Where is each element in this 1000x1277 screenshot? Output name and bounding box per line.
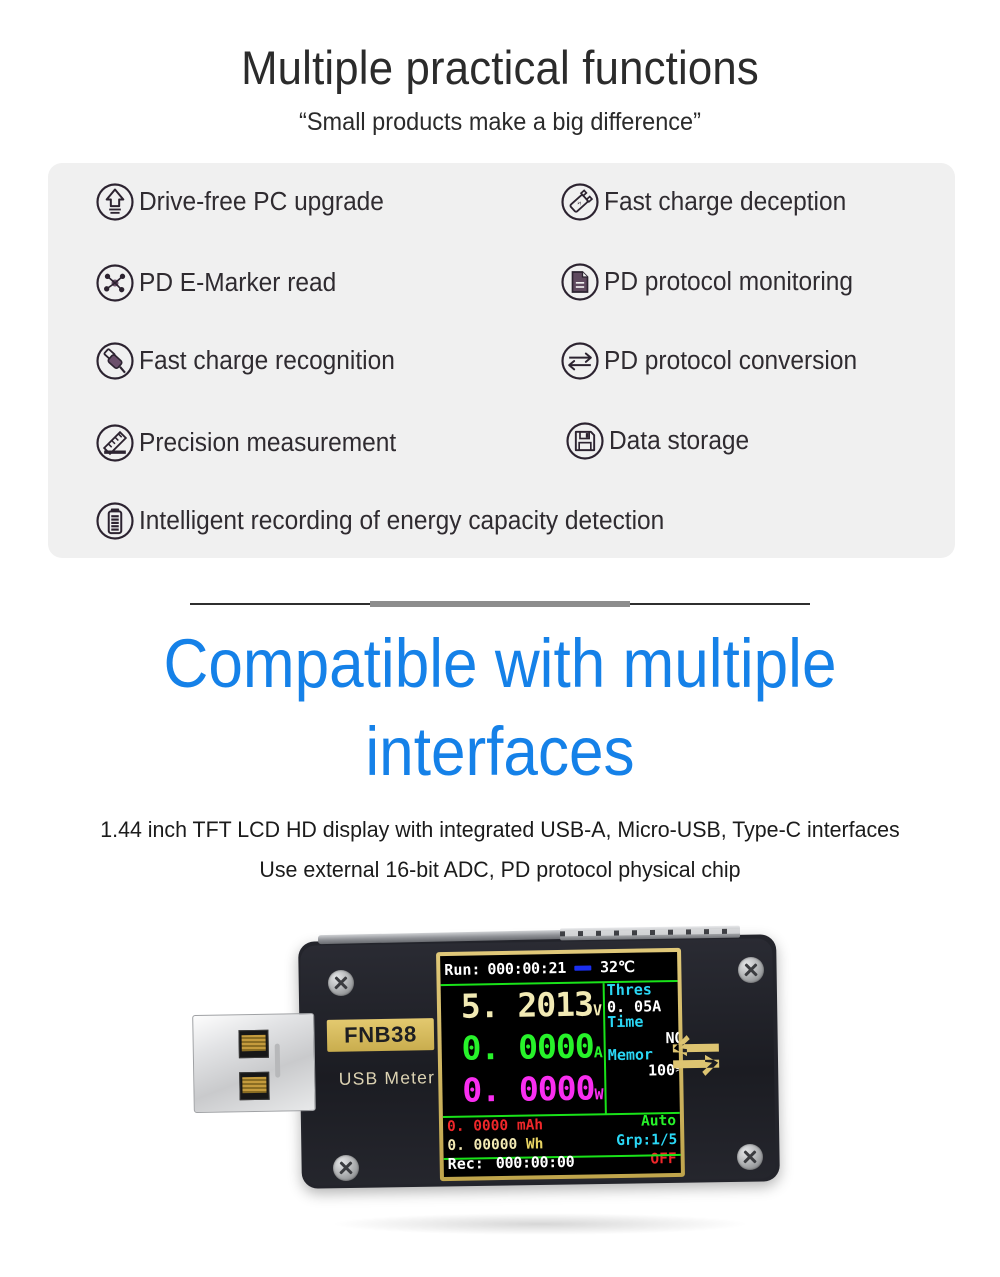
feature-label: PD protocol monitoring bbox=[604, 268, 853, 297]
ruler-icon bbox=[95, 423, 135, 463]
temperature-value: 32℃ bbox=[600, 958, 635, 977]
screw-top-left bbox=[328, 970, 354, 996]
run-time-value: 000:00:21 bbox=[487, 959, 566, 978]
feature-item-fast-charge-deception: Fast charge deception bbox=[560, 182, 856, 222]
record-label: Rec: bbox=[448, 1154, 484, 1173]
feature-label: Data storage bbox=[609, 427, 749, 456]
threshold-label: Thres bbox=[607, 982, 681, 999]
current-value: 0. 0000 bbox=[461, 1026, 594, 1067]
lcd-screen: Run: 000:00:21 32℃ 5. 2013V 0. 0000A 0. bbox=[440, 952, 681, 1177]
usb-a-connector bbox=[192, 1013, 314, 1111]
device-shadow bbox=[330, 1213, 750, 1235]
page-subtitle: “Small products make a big difference” bbox=[30, 108, 970, 137]
device-image: FNB38 USB Meter Run: 000:00:21 32℃ bbox=[0, 920, 1000, 1230]
lcd-record-bar: Rec: 000:00:00 bbox=[444, 1148, 681, 1176]
screw-bottom-right bbox=[737, 1144, 763, 1170]
current-readout: 0. 0000A bbox=[441, 1029, 602, 1065]
section-heading: Compatible with multiple interfaces bbox=[50, 620, 950, 796]
document-icon bbox=[560, 262, 600, 302]
power-unit: W bbox=[594, 1085, 602, 1103]
feature-item-pd-protocol-monitoring: PD protocol monitoring bbox=[560, 262, 863, 302]
exchange-arrows-icon bbox=[560, 341, 600, 381]
page-title: Multiple practical functions bbox=[35, 40, 965, 95]
brand-label-plate: FNB38 bbox=[327, 1018, 435, 1052]
feature-item-precision-measurement: Precision measurement bbox=[95, 423, 407, 463]
feature-label: PD protocol conversion bbox=[604, 347, 857, 376]
lcd-bezel: Run: 000:00:21 32℃ 5. 2013V 0. 0000A 0. bbox=[436, 948, 685, 1181]
voltage-readout: 5. 2013V bbox=[441, 987, 602, 1023]
lcd-primary-readouts: 5. 2013V 0. 0000A 0. 0000W bbox=[441, 983, 603, 1114]
record-time-value: 000:00:00 bbox=[496, 1153, 575, 1172]
screw-bottom-left bbox=[333, 1155, 359, 1181]
mode-value: Auto bbox=[641, 1113, 676, 1130]
brand-label-text: FNB38 bbox=[344, 1021, 417, 1048]
battery-icon bbox=[95, 501, 135, 541]
section-heading-line1: Compatible with multiple bbox=[50, 620, 950, 708]
divider-accent-bar bbox=[370, 601, 630, 607]
feature-label: Fast charge deception bbox=[604, 188, 846, 217]
group-value: Grp:1/5 bbox=[616, 1132, 677, 1149]
feature-label: Drive-free PC upgrade bbox=[139, 188, 384, 217]
feature-label: Intelligent recording of energy capacity… bbox=[139, 507, 664, 536]
transfer-arrows-icon bbox=[665, 1029, 728, 1082]
usb-contact-bottom bbox=[239, 1072, 269, 1101]
capacity-value: 0. 0000 bbox=[447, 1118, 508, 1135]
usb-contact-top bbox=[238, 1030, 268, 1059]
lcd-status-bar: Run: 000:00:21 32℃ bbox=[440, 952, 677, 984]
section-heading-line2: interfaces bbox=[50, 708, 950, 796]
feature-item-fast-charge-recognition: Fast charge recognition bbox=[95, 341, 405, 381]
current-unit: A bbox=[594, 1043, 602, 1061]
upload-arrow-icon bbox=[95, 182, 135, 222]
feature-label: PD E-Marker read bbox=[139, 269, 336, 298]
feature-item-pd-protocol-conversion: PD protocol conversion bbox=[560, 341, 868, 381]
section-divider bbox=[190, 600, 810, 608]
feature-label: Precision measurement bbox=[139, 429, 396, 458]
usb-slot bbox=[275, 1044, 281, 1078]
floppy-disk-icon bbox=[565, 421, 605, 461]
capacity-unit: mAh bbox=[517, 1117, 543, 1133]
spec-line-1: 1.44 inch TFT LCD HD display with integr… bbox=[25, 817, 975, 843]
power-readout: 0. 0000W bbox=[442, 1071, 603, 1107]
voltage-value: 5. 2013 bbox=[461, 984, 594, 1025]
spec-line-2: Use external 16-bit ADC, PD protocol phy… bbox=[25, 857, 975, 883]
run-label: Run: bbox=[444, 960, 480, 979]
feature-item-pd-e-marker-read: PD E-Marker read bbox=[95, 263, 344, 303]
connection-indicator-icon bbox=[574, 965, 591, 970]
product-feature-page: Multiple practical functions “Small prod… bbox=[0, 0, 1000, 1277]
e-marker-chip-icon bbox=[95, 263, 135, 303]
screw-top-right bbox=[738, 957, 764, 983]
feature-item-energy-capacity-detection: Intelligent recording of energy capacity… bbox=[95, 501, 686, 541]
voltage-unit: V bbox=[593, 1001, 601, 1019]
usb-plug-icon bbox=[95, 341, 135, 381]
fast-charge-plug-icon bbox=[560, 182, 600, 222]
feature-item-data-storage: Data storage bbox=[565, 421, 755, 461]
device-sub-label: USB Meter bbox=[322, 1067, 452, 1090]
feature-item-drive-free-pc-upgrade: Drive-free PC upgrade bbox=[95, 182, 394, 222]
capacity-readout: 0. 0000 mAh bbox=[447, 1117, 543, 1135]
feature-label: Fast charge recognition bbox=[139, 347, 395, 376]
power-value: 0. 0000 bbox=[462, 1068, 595, 1109]
